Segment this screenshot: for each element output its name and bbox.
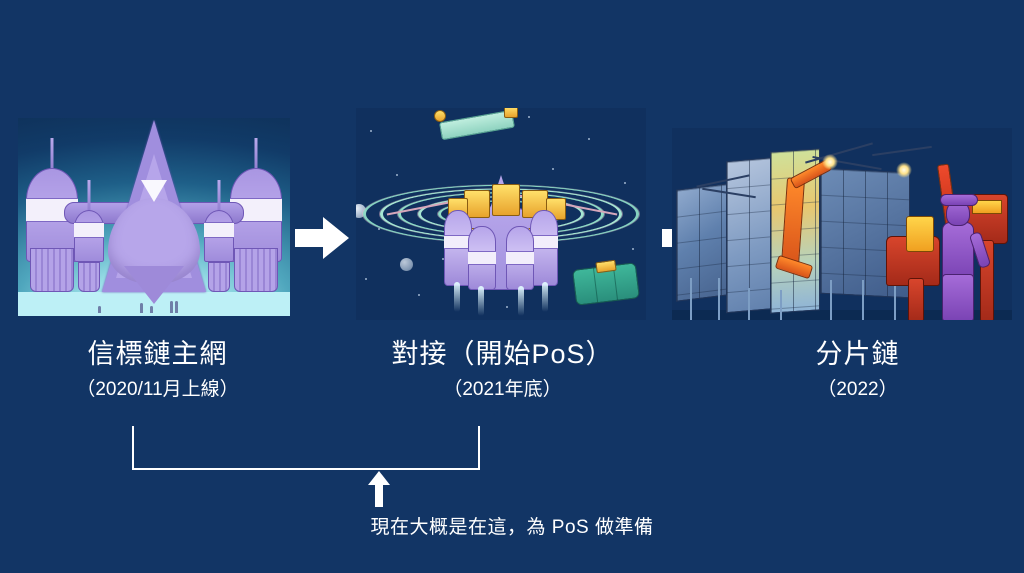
stage-1-caption: 信標鏈主網 （2020/11月上線） bbox=[0, 338, 315, 402]
bystander-figure bbox=[150, 306, 153, 313]
rocket-band bbox=[74, 222, 104, 238]
current-status-note: 現在大概是在這，為 PoS 做準備 bbox=[0, 512, 1024, 539]
exhaust-flame bbox=[478, 286, 484, 316]
range-bracket bbox=[132, 426, 480, 470]
exhaust-flame bbox=[454, 282, 460, 312]
support-leg bbox=[780, 290, 782, 320]
rocket-needle bbox=[88, 180, 91, 214]
ethereum-notch-icon bbox=[141, 180, 167, 202]
support-leg bbox=[690, 278, 692, 320]
gold-node-b bbox=[504, 108, 518, 118]
truss-beam bbox=[872, 146, 932, 156]
rocket-skirt bbox=[78, 262, 100, 292]
exhaust-flame bbox=[542, 282, 548, 312]
bracket-tick-left bbox=[132, 426, 134, 470]
current-position-pointer bbox=[368, 471, 390, 507]
bracket-baseline bbox=[132, 468, 480, 470]
arrow-stage1-to-stage2 bbox=[295, 215, 349, 261]
stage-2-caption: 對接（開始PoS） （2021年底） bbox=[345, 338, 660, 402]
rocket-right-inner bbox=[506, 226, 534, 290]
stage-1-subtitle: （2020/11月上線） bbox=[0, 379, 315, 402]
shard-chains-illustration bbox=[672, 128, 1012, 320]
support-leg bbox=[830, 280, 832, 320]
worker-torso bbox=[942, 222, 974, 280]
gold-node-a bbox=[434, 110, 446, 122]
moon-tiny bbox=[400, 258, 413, 271]
weld-spark bbox=[822, 154, 838, 170]
rocket-skirt bbox=[208, 262, 230, 292]
rocket-needle bbox=[218, 180, 221, 214]
bracket-tick-right bbox=[478, 426, 480, 470]
console-pedestal bbox=[908, 278, 924, 320]
rocket-needle bbox=[51, 138, 54, 172]
rocket-skirt bbox=[234, 248, 278, 292]
support-leg bbox=[718, 278, 720, 320]
the-merge-illustration bbox=[356, 108, 646, 320]
weld-spark bbox=[896, 162, 912, 178]
exhaust-flame bbox=[518, 286, 524, 316]
support-leg bbox=[748, 288, 750, 320]
beacon-chain-illustration bbox=[18, 118, 290, 316]
arrow-up-icon bbox=[368, 471, 390, 507]
arrow-right-icon bbox=[295, 215, 349, 261]
stage-3-title: 分片鏈 bbox=[700, 338, 1015, 370]
rocket-right-outer bbox=[530, 210, 558, 286]
support-leg bbox=[894, 280, 896, 320]
gold-module-2 bbox=[492, 184, 520, 216]
inner-rocket-left bbox=[74, 196, 104, 292]
rocket-left-inner bbox=[468, 226, 496, 290]
stage-2-title: 對接（開始PoS） bbox=[345, 338, 660, 370]
stage-2-subtitle: （2021年底） bbox=[345, 379, 660, 402]
inner-rocket-right bbox=[204, 196, 234, 292]
console-screen bbox=[906, 216, 934, 252]
stage-1-title: 信標鏈主網 bbox=[0, 338, 315, 370]
stage-3-subtitle: （2022） bbox=[700, 379, 1015, 402]
worker-legs bbox=[942, 274, 974, 320]
rocket-skirt bbox=[30, 248, 74, 292]
rocket-needle bbox=[255, 138, 258, 172]
bystander-figure bbox=[175, 301, 178, 313]
support-leg bbox=[862, 280, 864, 320]
rocket-band bbox=[204, 222, 234, 238]
bystander-figure bbox=[140, 303, 143, 313]
bystander-figure bbox=[170, 301, 173, 313]
diagram-canvas: 信標鏈主網 （2020/11月上線） 對接（開始PoS） （2021年底） 分片… bbox=[0, 0, 1024, 573]
bystander-figure bbox=[98, 306, 101, 313]
worker-helmet bbox=[940, 194, 978, 206]
stage-3-caption: 分片鏈 （2022） bbox=[700, 338, 1015, 402]
central-nose-cone bbox=[124, 266, 184, 304]
